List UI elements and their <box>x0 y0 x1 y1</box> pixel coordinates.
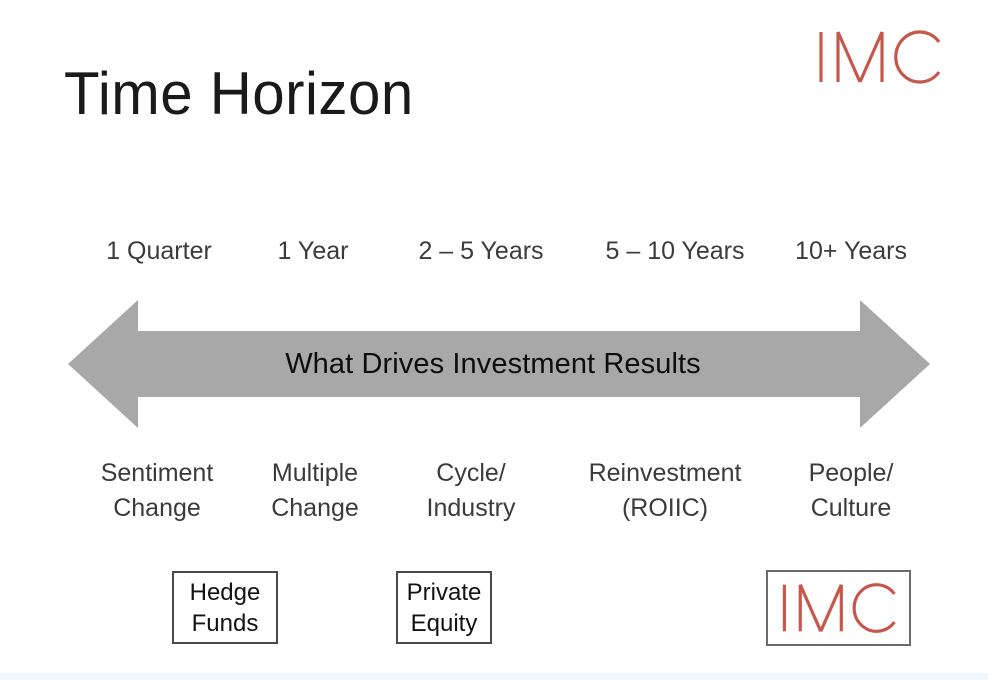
driver-line-1: Sentiment <box>101 456 214 491</box>
category-line-1: Hedge <box>190 577 261 608</box>
timeline-label-5-10-years: 5 – 10 Years <box>605 231 744 271</box>
driver-line-2: Change <box>101 491 214 526</box>
driver-line-1: People/ <box>809 456 894 491</box>
imc-logo-icon <box>812 26 946 88</box>
imc-logo-icon <box>776 577 901 639</box>
category-line-1: Private <box>407 577 482 608</box>
timeline-label-1-quarter: 1 Quarter <box>106 231 212 271</box>
driver-line-1: Cycle/ <box>427 456 516 491</box>
double-arrow-icon <box>68 297 930 431</box>
category-box-private-equity[interactable]: Private Equity <box>396 571 492 644</box>
bottom-accent-strip <box>0 673 988 680</box>
driver-line-2: Industry <box>427 491 516 526</box>
category-line-2: Funds <box>190 608 261 639</box>
page-title: Time Horizon <box>64 62 414 125</box>
driver-label-row: Sentiment Change Multiple Change Cycle/ … <box>0 456 988 540</box>
category-box-label: Hedge Funds <box>190 577 261 639</box>
driver-reinvestment-roiic: Reinvestment (ROIIC) <box>589 456 742 526</box>
category-box-hedge-funds[interactable]: Hedge Funds <box>172 571 278 644</box>
driver-multiple-change: Multiple Change <box>271 456 359 526</box>
driver-people-culture: People/ Culture <box>809 456 894 526</box>
category-box-label: Private Equity <box>407 577 482 639</box>
timeline-label-row: 1 Quarter 1 Year 2 – 5 Years 5 – 10 Year… <box>0 231 988 273</box>
timeline-label-1-year: 1 Year <box>278 231 349 271</box>
driver-sentiment-change: Sentiment Change <box>101 456 214 526</box>
timeline-label-10-plus-years: 10+ Years <box>795 231 907 271</box>
category-box-imc[interactable] <box>766 570 911 646</box>
timeline-label-2-5-years: 2 – 5 Years <box>418 231 543 271</box>
driver-line-2: Change <box>271 491 359 526</box>
driver-cycle-industry: Cycle/ Industry <box>427 456 516 526</box>
driver-line-2: Culture <box>809 491 894 526</box>
category-line-2: Equity <box>407 608 482 639</box>
driver-line-1: Reinvestment <box>589 456 742 491</box>
slide-time-horizon: Time Horizon 1 Quarter 1 Year 2 – 5 Year… <box>0 0 988 680</box>
driver-line-2: (ROIIC) <box>589 491 742 526</box>
driver-line-1: Multiple <box>271 456 359 491</box>
